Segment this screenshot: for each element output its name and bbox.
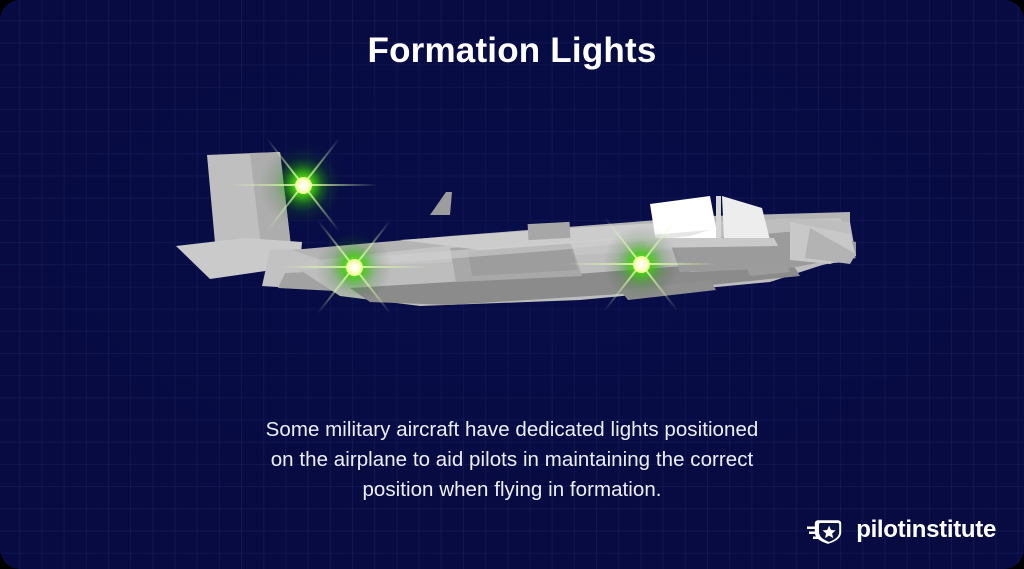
- canopy-rear: [722, 196, 770, 240]
- winged-shield-star-icon: [807, 517, 847, 544]
- caption-line-2: on the airplane to aid pilots in maintai…: [162, 445, 862, 475]
- page-title: Formation Lights: [0, 31, 1024, 71]
- caption-line-1: Some military aircraft have dedicated li…: [162, 415, 862, 445]
- fighter-jet-illustration: [150, 130, 880, 330]
- brand-name-part2: institute: [905, 516, 996, 543]
- spine-hatch: [528, 222, 571, 240]
- brand-logo: pilotinstitute: [807, 516, 996, 544]
- canopy-frame: [716, 196, 721, 241]
- far-vertical-stabilizer: [430, 192, 452, 215]
- caption-line-3: position when flying in formation.: [162, 475, 862, 505]
- brand-name-part1: pilot: [856, 516, 905, 543]
- caption-text: Some military aircraft have dedicated li…: [162, 415, 862, 505]
- infographic-card: Formation Lights: [0, 0, 1024, 569]
- brand-name: pilotinstitute: [856, 516, 996, 544]
